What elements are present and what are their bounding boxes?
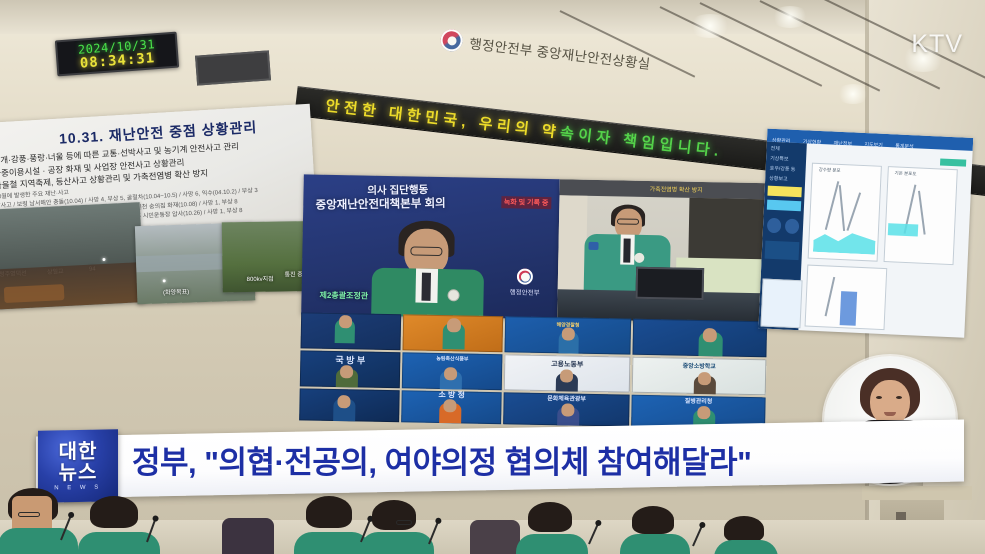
- room-backdrop: [688, 198, 769, 262]
- logo-line1: 대한: [59, 441, 98, 463]
- participant-tile-label: 중앙소방학교: [632, 360, 766, 372]
- participant-tile: [301, 312, 402, 350]
- dashboard-map-bottom: [805, 265, 888, 331]
- dashboard-tab[interactable]: 지도보기: [864, 141, 883, 149]
- recording-badge: 녹화 및 기록 중: [501, 196, 552, 209]
- participant-tile-label: 질병관리청: [632, 395, 766, 407]
- audience-person: [520, 500, 580, 554]
- broadcast-frame: 2024/10/31 08:34:31 행정안전부 중앙재난안전상황실 안전한 …: [0, 0, 985, 554]
- interpreter-eye: [876, 396, 882, 399]
- ceiling-light: [688, 14, 732, 38]
- person-shoulders: [516, 534, 588, 554]
- audience-person: [716, 510, 772, 554]
- audience-person: [2, 488, 72, 554]
- person-shoulders: [294, 532, 370, 554]
- person-hair: [528, 502, 572, 532]
- dashboard-map-right: 기온 분포도: [884, 166, 958, 265]
- speaker-caption: 제2총괄조정관: [319, 290, 368, 302]
- cctv-tile: 청주영덕선 상일교 94: [0, 202, 145, 309]
- participant-tile: 해양경찰청: [504, 316, 631, 354]
- wall-panel-dark: [195, 50, 271, 85]
- participant-tile: [402, 314, 503, 352]
- audience-person: [298, 496, 362, 554]
- conference-screen: 의사 집단행동 중앙재난안전대책본부 회의 녹화 및 기록 중 제2총괄조정관 …: [301, 174, 560, 319]
- dashboard-sidebar-item[interactable]: 기상특보: [766, 152, 806, 164]
- foreground-audience: [0, 482, 985, 554]
- participant-tile: 농림축산식품부: [402, 352, 503, 390]
- weather-dashboard: 상황관리 기상현황 재난정보 지도보기 통계분석 전체 기상특보 호우/강풍 등…: [758, 129, 973, 338]
- participant-tile: 소 방 청: [401, 390, 502, 424]
- map-title: 기온 분포도: [894, 170, 916, 177]
- participant-tile: 고용노동부: [504, 354, 631, 392]
- podium-monitor: [636, 267, 705, 300]
- dashboard-alert-chip: [767, 186, 801, 198]
- logo-line2: 뉴스: [59, 462, 98, 484]
- person-hair: [632, 506, 674, 534]
- dashboard-sidebar-item[interactable]: 호우/강풍 등: [766, 162, 806, 174]
- person-hair: [90, 496, 138, 528]
- empty-chair: [470, 520, 520, 554]
- cctv-tile-label: 800kv지점: [247, 274, 274, 283]
- podium-ticker-text: 가축전염병 확산 방지: [560, 179, 770, 195]
- ceiling-light: [836, 84, 870, 104]
- ceiling-light: [770, 6, 810, 28]
- dashboard-sidebar-item[interactable]: 상황보고: [765, 172, 805, 184]
- person-shoulders: [360, 532, 434, 554]
- participant-tile: [632, 319, 767, 358]
- participant-tile: 국 방 부: [300, 350, 401, 388]
- participant-tile: 중앙소방학교: [632, 357, 767, 396]
- cctv-tile-label: 통진 중: [284, 269, 302, 278]
- podium-feed: 가축전염병 확산 방지: [557, 179, 770, 323]
- audience-person: [84, 494, 150, 554]
- person-glasses-icon: [18, 512, 40, 517]
- conference-title-line1: 의사 집단행동: [367, 184, 428, 197]
- person-hair: [724, 516, 764, 542]
- participant-grid: 해양경찰청 국 방 부 농림축산식품부 고용노동부: [299, 312, 767, 429]
- taeguk-emblem-icon: [439, 28, 463, 52]
- cctv-tile-label: (화양목표): [163, 287, 189, 297]
- participant-tile: [299, 388, 400, 422]
- cctv-marker: [102, 258, 105, 261]
- person-glasses-icon: [396, 520, 412, 525]
- participant-tile: 문화체육관광부: [503, 392, 630, 426]
- dashboard-map-left: 강수량 분포: [808, 163, 882, 262]
- taeguk-emblem-icon: [517, 268, 533, 284]
- empty-chair: [222, 518, 274, 554]
- person-shoulders: [0, 528, 78, 554]
- dashboard-tab[interactable]: 재난정보: [833, 140, 852, 148]
- person-hair: [306, 496, 352, 528]
- audience-person: [364, 498, 426, 554]
- dashboard-map-small: [760, 279, 802, 329]
- dashboard-info-chip: [767, 200, 801, 212]
- participant-tile-label: 국 방 부: [300, 352, 400, 367]
- map-title: 강수량 분포: [819, 167, 841, 174]
- interpreter-eye: [896, 396, 902, 399]
- participant-tile-label: 문화체육관광부: [504, 392, 630, 403]
- cctv-marker: [163, 279, 166, 282]
- dashboard-status-chip: [940, 158, 966, 166]
- person-shoulders: [714, 540, 778, 554]
- conference-emblem-label: 행정안전부: [510, 289, 540, 297]
- podium-ticker: 가축전염병 확산 방지: [560, 179, 770, 199]
- conference-emblem: 행정안전부: [510, 268, 540, 297]
- dashboard-tab[interactable]: 통계분석: [895, 142, 914, 150]
- channel-watermark: KTV: [911, 30, 963, 59]
- audience-person: [624, 502, 682, 554]
- conference-speaker: [363, 218, 497, 319]
- person-shoulders: [620, 534, 690, 554]
- news-headline: 정부, "의협·전공의, 여야의정 협의체 참여해달라": [132, 437, 751, 482]
- participant-tile-label: 농림축산식품부: [402, 354, 502, 363]
- person-hair: [372, 500, 416, 530]
